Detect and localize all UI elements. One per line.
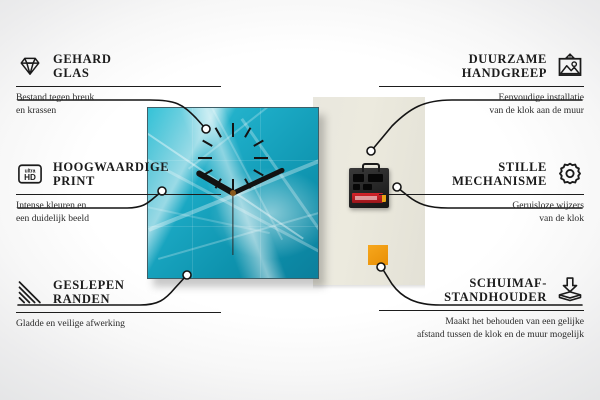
connector-node-gehard-glas	[202, 125, 210, 133]
feature-description: Geruisloze wijzers van de klok	[379, 200, 584, 226]
feature-description: Intense kleuren en een duidelijk beeld	[16, 200, 221, 226]
feature-title-line2: STANDHOUDER	[444, 290, 547, 304]
feature-title-line1: STILLE	[452, 160, 547, 174]
feature-stille-mechanisme: STILLE MECHANISME Geruisloze wijzers van…	[379, 160, 584, 225]
feature-geslepen-randen: GESLEPEN RANDEN Gladde en veilige afwerk…	[16, 278, 221, 331]
feature-divider	[16, 86, 221, 87]
feature-title-line1: GESLEPEN	[53, 278, 125, 292]
feature-desc-line2: afstand tussen de klok en de muur mogeli…	[379, 329, 584, 342]
beveled-edges-icon	[16, 278, 44, 306]
feature-divider	[16, 312, 221, 313]
feature-desc-line1: Maakt het behouden van een gelijke	[379, 316, 584, 329]
feature-title-line1: DUURZAME	[462, 52, 547, 66]
feature-desc-line2: een duidelijk beeld	[16, 213, 221, 226]
feature-desc-line2: en krassen	[16, 105, 221, 118]
diamond-icon	[16, 52, 44, 80]
feature-divider	[16, 194, 221, 195]
foam-spacer-icon	[556, 276, 584, 304]
feature-schuimafstandhouder: SCHUIMAF- STANDHOUDER Maakt het behouden…	[379, 276, 584, 341]
feature-hoogwaardige-print: ultra HD HOOGWAARDIGE PRINT Intense kleu…	[16, 160, 221, 225]
feature-title-line1: HOOGWAARDIGE	[53, 160, 169, 174]
feature-description: Gladde en veilige afwerking	[16, 318, 221, 331]
feature-title-line2: GLAS	[53, 66, 111, 80]
feature-desc-line1: Geruisloze wijzers	[379, 200, 584, 213]
feature-title-line2: HANDGREEP	[462, 66, 547, 80]
feature-desc-line1: Bestand tegen breuk	[16, 92, 221, 105]
feature-desc-line2: van de klok	[379, 213, 584, 226]
feature-divider	[379, 86, 584, 87]
connector-node-schuim	[377, 263, 385, 271]
picture-frame-hanger-icon	[556, 52, 584, 80]
feature-desc-line1: Gladde en veilige afwerking	[16, 318, 221, 331]
feature-title-line2: MECHANISME	[452, 174, 547, 188]
feature-desc-line1: Intense kleuren en	[16, 200, 221, 213]
feature-divider	[379, 194, 584, 195]
feature-desc-line1: Eenvoudige installatie	[379, 92, 584, 105]
feature-title-line2: RANDEN	[53, 292, 125, 306]
feature-desc-line2: van de klok aan de muur	[379, 105, 584, 118]
feature-title-line2: PRINT	[53, 174, 169, 188]
feature-description: Bestand tegen breuk en krassen	[16, 92, 221, 118]
ultra-hd-icon: ultra HD	[16, 160, 44, 188]
feature-duurzame-handgreep: DUURZAME HANDGREEP Eenvoudige installati…	[379, 52, 584, 117]
connector-node-handgreep	[367, 147, 375, 155]
feature-title-line1: GEHARD	[53, 52, 111, 66]
feature-divider	[379, 310, 584, 311]
feature-title-line1: SCHUIMAF-	[444, 276, 547, 290]
feature-description: Maakt het behouden van een gelijke afsta…	[379, 316, 584, 342]
infographic-canvas: GEHARD GLAS Bestand tegen breuk en krass…	[0, 0, 600, 400]
feature-description: Eenvoudige installatie van de klok aan d…	[379, 92, 584, 118]
feature-gehard-glas: GEHARD GLAS Bestand tegen breuk en krass…	[16, 52, 221, 117]
gear-icon	[556, 160, 584, 188]
svg-text:HD: HD	[24, 173, 36, 182]
